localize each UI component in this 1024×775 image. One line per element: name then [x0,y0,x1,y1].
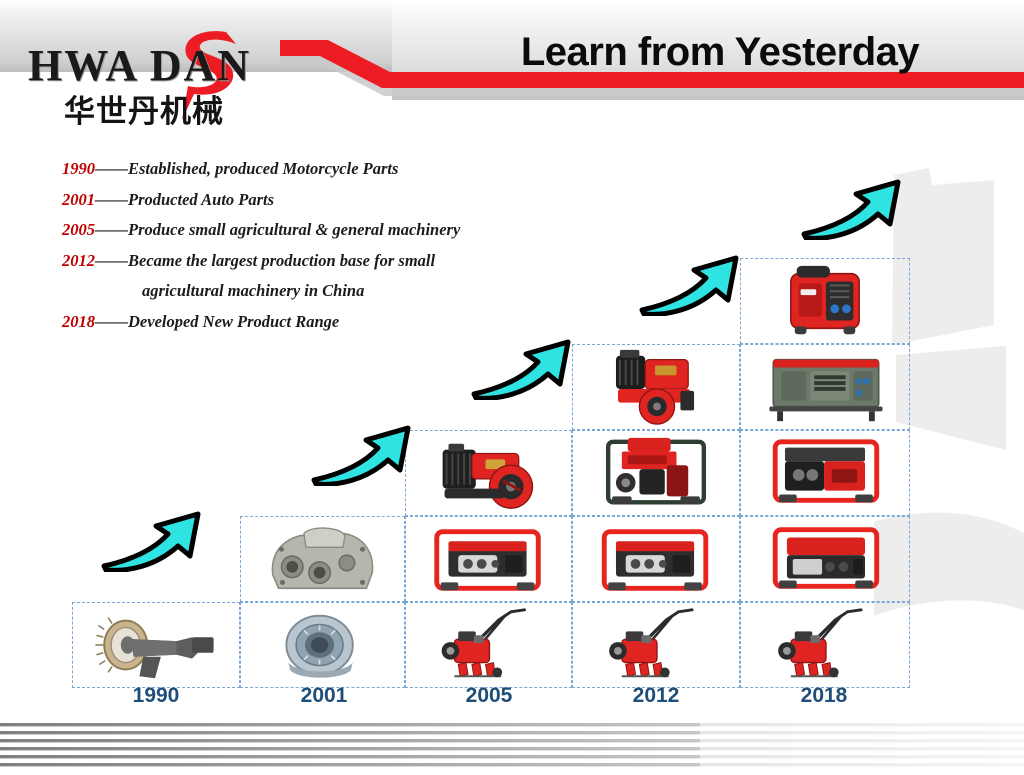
year-label-2012: 2012 [572,684,740,708]
slide-footer: LEAD THE INDUSTRY GO ALONG WITH WORLD 引领… [0,719,1024,775]
product-thumbnail-auto-gearbox-casting [248,518,397,600]
product-thumbnail-mini-tiller-cultivator [413,604,564,686]
growth-arrow-4 [636,252,744,316]
timeline-desc: Developed New Product Range [128,312,339,331]
timeline-dash: —— [95,251,128,270]
grid-cell-2018-tier2 [740,516,910,602]
timeline-desc: Established, produced Motorcycle Parts [128,159,398,178]
year-label-1990: 1990 [72,684,240,708]
grid-cell-2018-tier4 [740,344,910,430]
footer-stripes [0,719,1024,775]
logo-text-en: HWA DAN [28,40,251,91]
timeline-text-line-4: 2012——Became the largest production base… [62,246,662,277]
grid-cell-2005-tier2 [405,516,572,602]
grid-cell-2012-tier4 [572,344,740,430]
product-thumbnail-silent-diesel-generator-set [748,346,902,428]
timeline-text-line-6: 2018——Developed New Product Range [62,307,662,338]
grid-cell-2012-tier2 [572,516,740,602]
timeline-dash: —— [95,190,128,209]
product-thumbnail-red-frame-gasoline-generator [580,518,732,600]
product-thumbnail-red-frame-gasoline-generator [413,518,564,600]
timeline-dash: —— [95,220,128,239]
year-label-2001: 2001 [240,684,408,708]
grid-cell-2012-tier1 [572,602,740,688]
timeline-dash: —— [95,312,128,331]
timeline-text-line-3: 2005——Produce small agricultural & gener… [62,215,662,246]
grid-cell-2018-tier1 [740,602,910,688]
growth-arrow-5 [798,176,906,240]
product-thumbnail-vertical-diesel-engine [580,346,732,428]
product-thumbnail-red-inverter-generator [748,260,902,342]
growth-arrow-2 [308,422,416,486]
product-thumbnail-motorcycle-crankshaft-gear [80,604,232,686]
product-thumbnail-auto-part-housing [248,604,397,686]
company-logo: HWA DAN 华世丹机械 [28,24,328,124]
grid-cell-2005-tier1 [405,602,572,688]
product-thumbnail-portable-gasoline-generator [748,518,902,600]
grid-cell-2001-tier1 [240,602,405,688]
year-label-2005: 2005 [405,684,573,708]
logo-text-cn: 华世丹机械 [64,86,224,131]
timeline-desc: Produce small agricultural & general mac… [128,220,460,239]
timeline-desc: agricultural machinery in China [142,281,364,300]
grid-cell-2001-tier2 [240,516,405,602]
growth-arrow-3 [468,336,576,400]
product-thumbnail-mini-tiller-cultivator [580,604,732,686]
year-label-2018: 2018 [740,684,908,708]
product-thumbnail-red-black-gasoline-engine [413,432,564,514]
page-title: Learn from Yesterday [440,26,1000,82]
product-thumbnail-mini-tiller-cultivator [748,604,902,686]
timeline-desc: Producted Auto Parts [128,190,274,209]
grid-cell-2005-tier3 [405,430,572,516]
timeline-text-line-2: 2001——Producted Auto Parts [62,185,662,216]
timeline-text-line-1: 1990——Established, produced Motorcycle P… [62,154,662,185]
grid-cell-2012-tier3 [572,430,740,516]
growth-arrow-1 [98,508,206,572]
timeline-text-line-5: agricultural machinery in China [62,276,662,307]
timeline-year-2018: 2018 [62,312,95,331]
product-thumbnail-red-frame-welder-generator [748,432,902,514]
slide-header: HWA DAN 华世丹机械 Learn from Yesterday [0,0,1024,105]
product-thumbnail-open-frame-diesel-generator [580,432,732,514]
timeline-year-2001: 2001 [62,190,95,209]
timeline-year-1990: 1990 [62,159,95,178]
grid-cell-1990-tier1 [72,602,240,688]
timeline-text-list: 1990——Established, produced Motorcycle P… [62,154,662,337]
grid-cell-2018-tier3 [740,430,910,516]
timeline-year-2005: 2005 [62,220,95,239]
timeline-desc: Became the largest production base for s… [128,251,435,270]
slide-root: HWA DAN 华世丹机械 Learn from Yesterday 1990—… [0,0,1024,775]
grid-cell-2018-tier5 [740,258,910,344]
timeline-year-2012: 2012 [62,251,95,270]
timeline-dash: —— [95,159,128,178]
